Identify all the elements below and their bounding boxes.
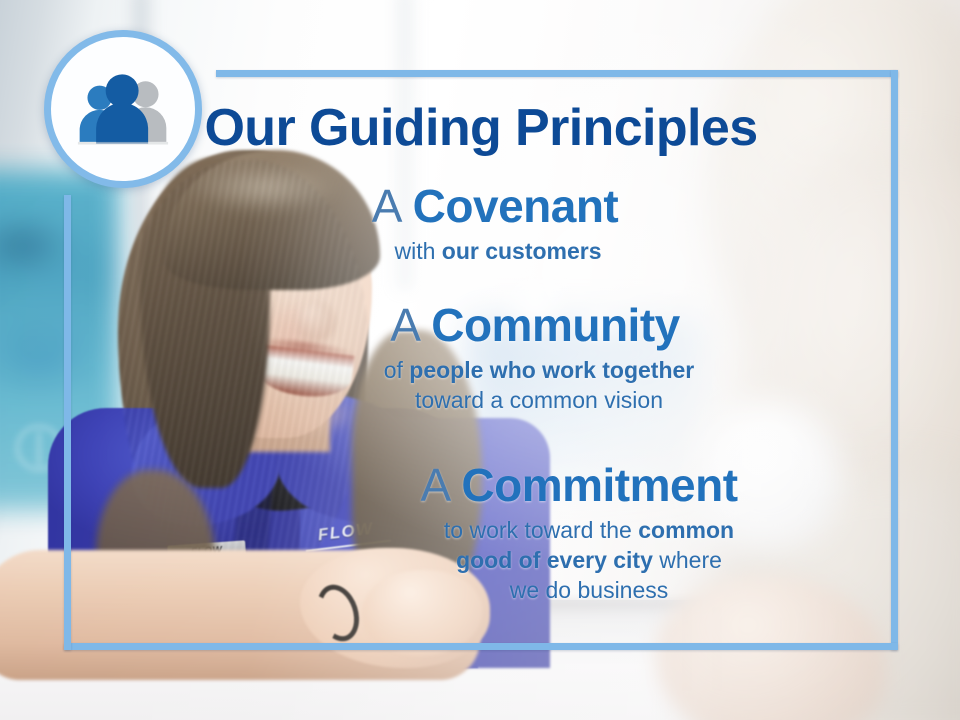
- principle-keyword: Covenant: [413, 180, 619, 232]
- description-line: toward a common vision: [180, 386, 898, 416]
- principle-description: to work toward the common good of every …: [64, 516, 898, 606]
- principle-block-community: A Community of people who work together …: [64, 302, 898, 416]
- principle-description: with our customers: [64, 237, 898, 267]
- principle-keyword: Commitment: [461, 459, 737, 511]
- page-title: Our Guiding Principles: [64, 98, 898, 158]
- principle-keyword: Community: [431, 299, 680, 351]
- description-line: good of every city where: [280, 546, 898, 576]
- principle-heading: A Community: [64, 302, 898, 350]
- description-line: with our customers: [98, 237, 898, 267]
- description-line: we do business: [280, 576, 898, 606]
- principle-description: of people who work together toward a com…: [64, 356, 898, 416]
- principle-block-commitment: A Commitment to work toward the common g…: [64, 462, 898, 606]
- principle-article: A: [420, 459, 448, 511]
- principle-article: A: [372, 180, 400, 232]
- marketing-graphic: FLOW AUTOMOTIVE FLOW: [0, 0, 960, 720]
- description-line: of people who work together: [180, 356, 898, 386]
- principle-block-covenant: A Covenant with our customers: [64, 183, 898, 267]
- principles-copy: Our Guiding Principles A Covenant with o…: [64, 70, 898, 650]
- principle-heading: A Covenant: [64, 183, 898, 231]
- principle-heading: A Commitment: [64, 462, 898, 510]
- description-line: to work toward the common: [280, 516, 898, 546]
- principle-article: A: [390, 299, 418, 351]
